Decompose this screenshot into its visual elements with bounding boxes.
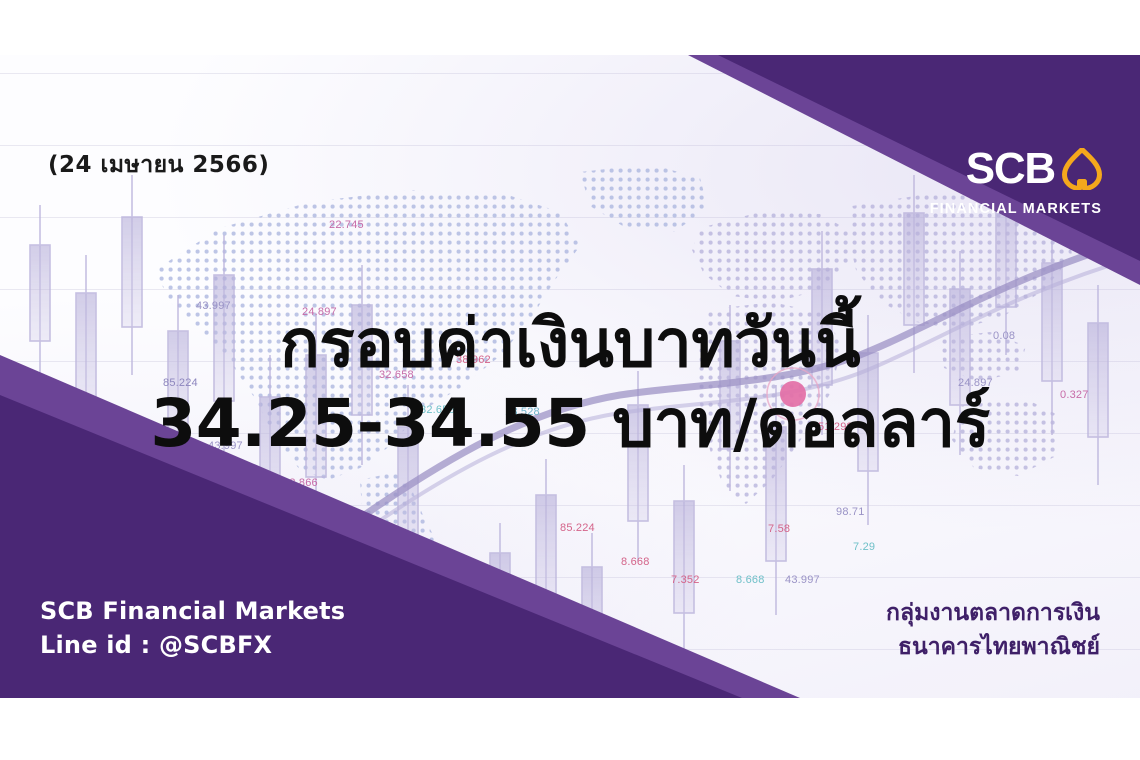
logo-row: SCB — [930, 147, 1102, 191]
background-value-label: 22.745 — [329, 219, 364, 231]
footer-line-id: Line id : @SCBFX — [40, 628, 345, 662]
background-value-label: 23.866 — [283, 477, 318, 489]
headline-line-2: 34.25-34.55 บาท/ดอลลาร์ — [0, 385, 1140, 463]
logo-wordmark: SCB — [966, 147, 1055, 191]
scb-bodhi-leaf-icon — [1062, 148, 1102, 190]
logo-subtitle: FINANCIAL MARKETS — [930, 201, 1102, 217]
footer-left-block: SCB Financial Markets Line id : @SCBFX — [40, 594, 345, 662]
background-value-label: 8.668 — [736, 574, 765, 586]
background-value-label: 8.668 — [621, 556, 650, 568]
headline-line-1: กรอบค่าเงินบาทวันนี้ — [0, 305, 1140, 383]
footer-right-block: กลุ่มงานตลาดการเงิน ธนาคารไทยพาณิชย์ — [886, 597, 1100, 664]
publication-date: (24 เมษายน 2566) — [48, 147, 269, 183]
background-value-label: 85.224 — [560, 522, 595, 534]
background-value-label: 98.71 — [836, 506, 865, 518]
background-value-label: 7.29 — [853, 541, 875, 553]
footer-bank-th: ธนาคารไทยพาณิชย์ — [886, 631, 1100, 664]
background-value-label: 43.997 — [785, 574, 820, 586]
scb-logo: SCB FINANCIAL MARKETS — [930, 147, 1102, 217]
background-value-label: 10.552 — [183, 482, 218, 494]
footer-division-th: กลุ่มงานตลาดการเงิน — [886, 597, 1100, 630]
poster-canvas: 22.74543.99724.89738.96285.22432.65832.6… — [0, 0, 1140, 760]
background-value-label: 7.352 — [671, 574, 700, 586]
footer-org-name: SCB Financial Markets — [40, 594, 345, 628]
headline: กรอบค่าเงินบาทวันนี้ 34.25-34.55 บาท/ดอล… — [0, 305, 1140, 463]
banner-artwork: 22.74543.99724.89738.96285.22432.65832.6… — [0, 55, 1140, 698]
background-value-label: 7.58 — [768, 523, 790, 535]
background-value-label: 7.352 — [234, 493, 263, 505]
